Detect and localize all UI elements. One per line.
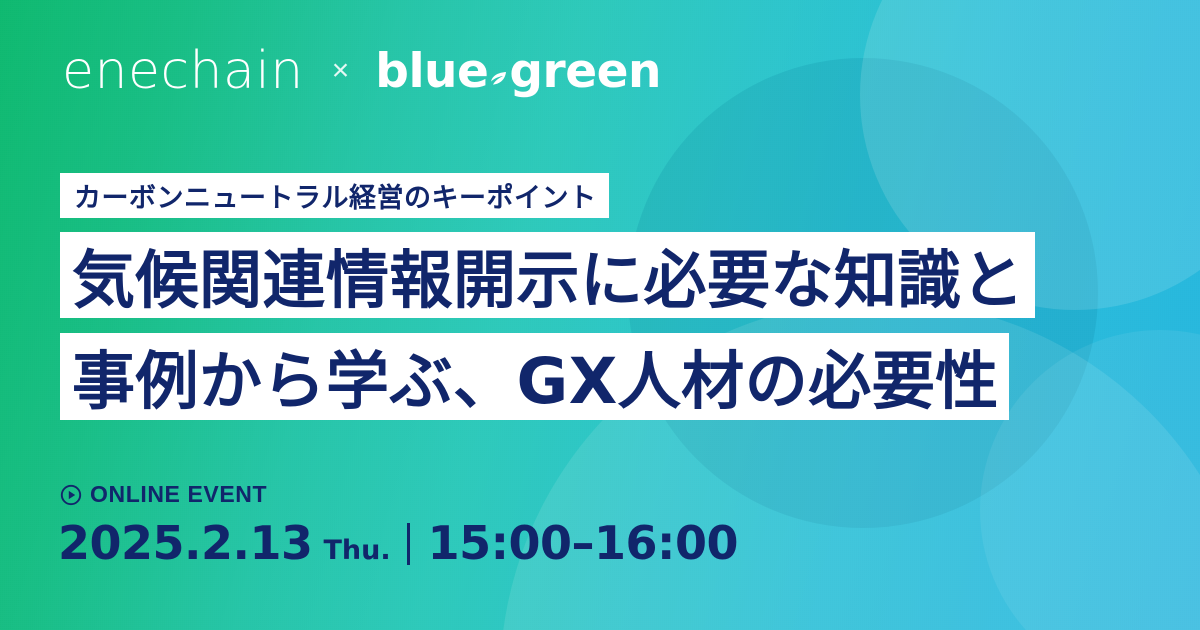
datetime-divider: [407, 523, 410, 565]
event-time: 15:00–16:00: [428, 516, 738, 570]
bluegreen-logo-part1: blue: [375, 48, 488, 95]
event-datetime: 2025.2.13 Thu. 15:00–16:00: [58, 516, 738, 570]
event-banner: enechain × blue green カーボンニュートラル経営のキーポイン…: [0, 0, 1200, 630]
bluegreen-logo: blue green: [375, 48, 661, 95]
title-line-2-text: 事例から学ぶ、GX人材の必要性: [72, 331, 999, 422]
multiply-icon: ×: [332, 56, 350, 86]
title-ribbon-line-2: 事例から学ぶ、GX人材の必要性: [60, 333, 1009, 420]
title-line-1-text: 気候関連情報開示に必要な知識と: [72, 230, 1025, 321]
decorative-circle-right: [980, 330, 1200, 630]
event-weekday: Thu.: [324, 535, 391, 566]
bluegreen-logo-part2: green: [509, 48, 661, 95]
event-date: 2025.2.13: [58, 516, 313, 570]
event-format-label: ONLINE EVENT: [90, 481, 267, 508]
leaf-icon: [489, 69, 508, 88]
event-format-tag: ONLINE EVENT: [60, 481, 267, 508]
enechain-logo: enechain: [62, 45, 304, 97]
subtitle-text: カーボンニュートラル経営のキーポイント: [74, 176, 597, 215]
play-circle-icon: [60, 484, 82, 506]
logo-lockup: enechain × blue green: [62, 40, 661, 102]
subtitle-ribbon: カーボンニュートラル経営のキーポイント: [60, 173, 609, 218]
title-ribbon-line-1: 気候関連情報開示に必要な知識と: [60, 232, 1035, 318]
